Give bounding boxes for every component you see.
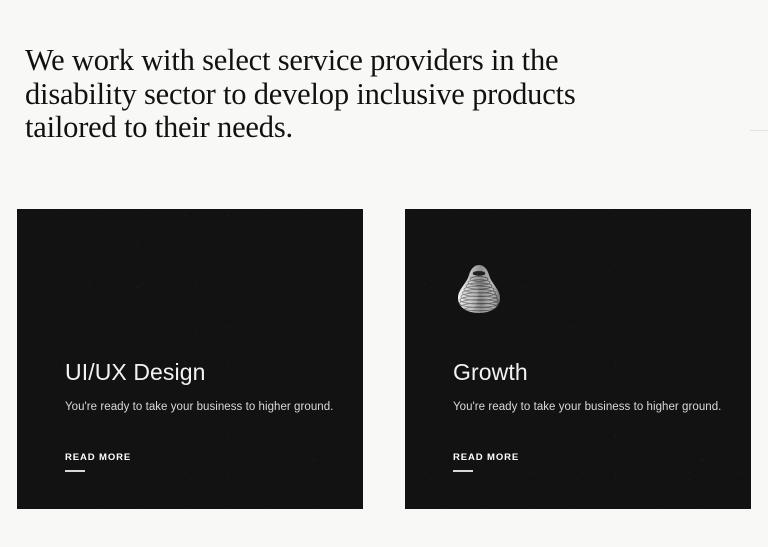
card-title: UI/UX Design (65, 359, 339, 386)
service-card[interactable]: Growth You're ready to take your busines… (405, 209, 751, 509)
read-more-link[interactable]: READ MORE (453, 452, 519, 472)
read-more-underline (453, 470, 473, 472)
card-subtitle: You're ready to take your business to hi… (65, 399, 339, 415)
read-more-underline (65, 470, 85, 472)
read-more-label: READ MORE (65, 452, 131, 463)
card-title: Growth (453, 359, 727, 386)
teardrop-vase-icon (443, 251, 515, 323)
torus-ring-icon (55, 251, 127, 323)
page-title: We work with select service providers in… (25, 44, 665, 145)
edge-divider (750, 130, 768, 131)
card-text-block: Growth You're ready to take your busines… (453, 359, 727, 415)
card-subtitle: You're ready to take your business to hi… (453, 399, 727, 415)
service-card-list: UI/UX Design You're ready to take your b… (17, 209, 768, 509)
service-card[interactable]: UI/UX Design You're ready to take your b… (17, 209, 363, 509)
read-more-link[interactable]: READ MORE (65, 452, 131, 472)
card-text-block: UI/UX Design You're ready to take your b… (65, 359, 339, 415)
read-more-label: READ MORE (453, 452, 519, 463)
